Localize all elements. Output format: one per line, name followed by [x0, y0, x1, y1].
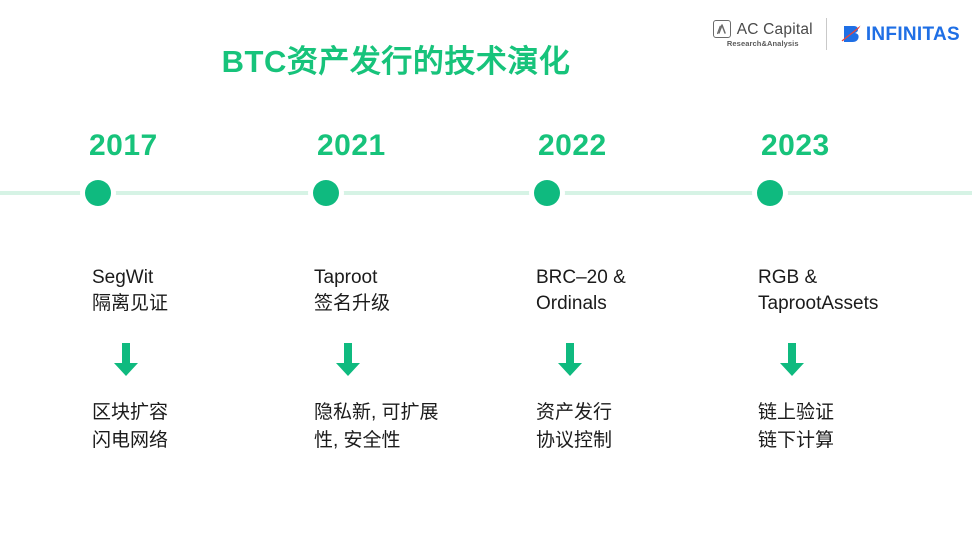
timeline-node-2022[interactable]: [534, 180, 560, 206]
ac-capital-subtitle: Research&Analysis: [727, 40, 799, 48]
milestone-tech-2021: Taproot 签名升级: [314, 265, 390, 317]
milestone-outcome-2017: 区块扩容 闪电网络: [92, 399, 168, 455]
milestone-tech-2023: RGB & TaprootAssets: [758, 265, 878, 317]
infinitas-logo: INFINITAS: [840, 24, 960, 44]
arrow-down-icon: [777, 343, 807, 377]
ac-capital-logo-top: AC Capital: [713, 20, 813, 38]
ac-capital-logo: AC Capital Research&Analysis: [713, 20, 813, 48]
milestone-outcome-2022: 资产发行 协议控制: [536, 399, 612, 455]
timeline-axis-line: [0, 191, 972, 195]
arrow-down-icon: [333, 343, 363, 377]
ac-monogram-icon: [713, 20, 731, 38]
timeline-node-2021[interactable]: [313, 180, 339, 206]
timeline-year-2022: 2022: [538, 131, 607, 161]
logo-bar: AC Capital Research&Analysis INFINITAS: [713, 14, 960, 54]
slide-canvas: BTC资产发行的技术演化 AC Capital Research&Analysi…: [0, 0, 972, 547]
arrow-down-icon: [555, 343, 585, 377]
logo-divider: [826, 18, 827, 50]
infinitas-name: INFINITAS: [866, 25, 960, 44]
timeline-year-2017: 2017: [89, 131, 158, 161]
timeline-node-2023[interactable]: [757, 180, 783, 206]
arrow-down-icon: [111, 343, 141, 377]
milestone-tech-2017: SegWit 隔离见证: [92, 265, 168, 317]
ac-capital-name: AC Capital: [737, 22, 813, 38]
milestone-tech-2022: BRC–20 & Ordinals: [536, 265, 626, 317]
timeline-year-2023: 2023: [761, 131, 830, 161]
infinitas-b-mark-icon: [840, 24, 862, 44]
milestone-outcome-2021: 隐私新, 可扩展 性, 安全性: [314, 399, 439, 455]
timeline-node-2017[interactable]: [85, 180, 111, 206]
timeline-year-2021: 2021: [317, 131, 386, 161]
milestone-outcome-2023: 链上验证 链下计算: [758, 399, 834, 455]
